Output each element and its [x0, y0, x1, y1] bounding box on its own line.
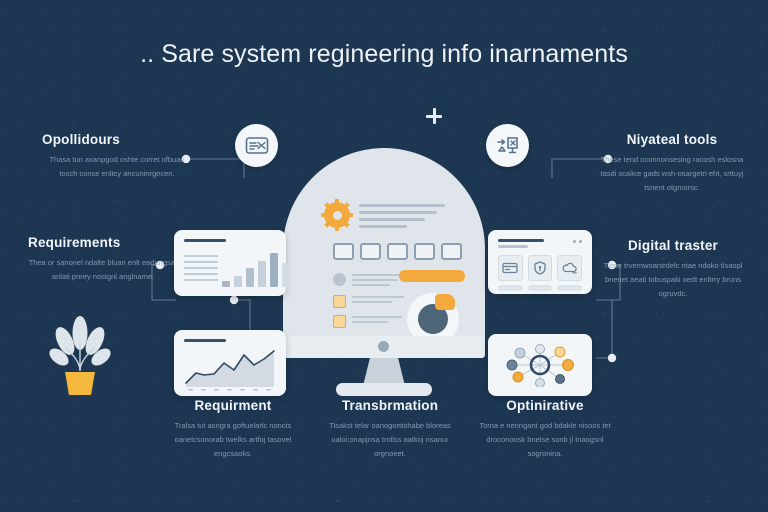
callout-title: Opollidours [42, 132, 192, 147]
list-item-lines [352, 315, 402, 323]
callout-title: Optinirative [470, 398, 620, 413]
screen-tile[interactable] [360, 243, 381, 260]
bar [222, 281, 230, 287]
card-menu-dots[interactable] [573, 240, 582, 243]
bar-chart-card[interactable] [174, 230, 286, 296]
icon-tile-row [498, 255, 582, 281]
gear-icon [324, 202, 350, 228]
callout-title: Requirment [158, 398, 308, 413]
monitor-power-button[interactable] [378, 341, 389, 352]
document-icon [333, 295, 346, 308]
list-item-lines [352, 273, 404, 286]
icon-tile-cloud[interactable] [557, 255, 582, 281]
callout-title: Transbrmation [315, 398, 465, 413]
screen-list-item [333, 273, 404, 286]
bar [234, 276, 242, 287]
plus-sparkle-icon [426, 108, 442, 124]
callout-transbrmation: Transbrmation Tisakst telar oanogorttoha… [315, 398, 465, 461]
callout-opollidours: Opollidours Thasa tun axanpgod oshte cor… [42, 132, 192, 181]
callout-title: Niyateal tools [598, 132, 746, 147]
screen-tile[interactable] [414, 243, 435, 260]
hub-and-spoke-network [498, 343, 582, 387]
bar [270, 253, 278, 287]
document-icon [333, 315, 346, 328]
central-monitor-screen [283, 148, 485, 344]
callout-niyateal-tools: Niyateal tools These tend oconnonsesing … [598, 132, 746, 195]
monitor-arrow-badge[interactable] [486, 124, 529, 167]
shield-icon [534, 261, 546, 275]
list-item-lines [352, 295, 404, 303]
line-chart-plot [184, 349, 276, 391]
callout-body: Thea or sanonel ndalte bluan enlt eadung… [28, 256, 178, 284]
screen-tile[interactable] [333, 243, 354, 260]
screen-text-line [359, 218, 425, 221]
monitor-arrow-icon [496, 135, 520, 157]
card-title-bar [498, 239, 544, 242]
callout-body: Tralsa tut asngra goftuelarlc noncts oan… [158, 419, 308, 461]
callout-body: Torna e nenngant god bdakle nisoos tet d… [470, 419, 620, 461]
screen-tile[interactable] [387, 243, 408, 260]
globe-icon [333, 273, 346, 286]
monitor-screen-content [283, 148, 485, 344]
envelope-document-icon [245, 136, 269, 156]
monitor-stand-base [336, 383, 432, 396]
bar [258, 261, 266, 287]
screen-tile[interactable] [441, 243, 462, 260]
screen-list-item [333, 295, 404, 308]
infographic-canvas: .. Sare system regineering info inarname… [0, 0, 768, 512]
primary-cta-button[interactable] [399, 270, 465, 282]
callout-optinirative: Optinirative Torna e nenngant god bdakle… [470, 398, 620, 461]
callout-body: Thasa tun axanpgod oshte corret ofbuan t… [42, 153, 192, 181]
callout-requirment: Requirment Tralsa tut asngra goftuelarlc… [158, 398, 308, 461]
screen-text-line [359, 211, 437, 214]
card-subtitle-bar [498, 245, 528, 248]
card-icon [502, 262, 518, 274]
screen-text-line [359, 225, 407, 228]
callout-body: Tisakst telar oanogorttohabe bloreas ual… [315, 419, 465, 461]
icon-tiles-card[interactable] [488, 230, 592, 294]
donut-chart-highlight-wedge [435, 294, 455, 310]
cloud-icon [561, 262, 578, 274]
callout-body: Tlose trvernwoantrdelc ntae ndoko tlsaop… [600, 259, 746, 301]
bar-chart-bars [222, 253, 290, 287]
bar [246, 268, 254, 287]
card-pill-row [498, 285, 582, 291]
callout-title: Requirements [28, 235, 178, 250]
screen-tile-row [333, 243, 462, 260]
screen-list-item [333, 315, 402, 328]
line-chart-card[interactable] [174, 330, 286, 396]
network-diagram-card[interactable] [488, 334, 592, 396]
icon-tile-card[interactable] [498, 255, 523, 281]
card-title-bar [184, 239, 226, 242]
envelope-document-badge[interactable] [235, 124, 278, 167]
callout-body: These tend oconnonsesing racosh eslosna … [598, 153, 746, 195]
bar [282, 263, 290, 287]
callout-requirements: Requirements Thea or sanonel ndalte blua… [28, 235, 178, 284]
callout-digital-traster: Digital traster Tlose trvernwoantrdelc n… [600, 238, 746, 301]
potted-plant-illustration [45, 315, 115, 400]
card-title-bar [184, 339, 226, 342]
callout-title: Digital traster [600, 238, 746, 253]
card-text-lines [184, 255, 218, 281]
screen-text-line [359, 204, 445, 207]
icon-tile-shield[interactable] [528, 255, 553, 281]
